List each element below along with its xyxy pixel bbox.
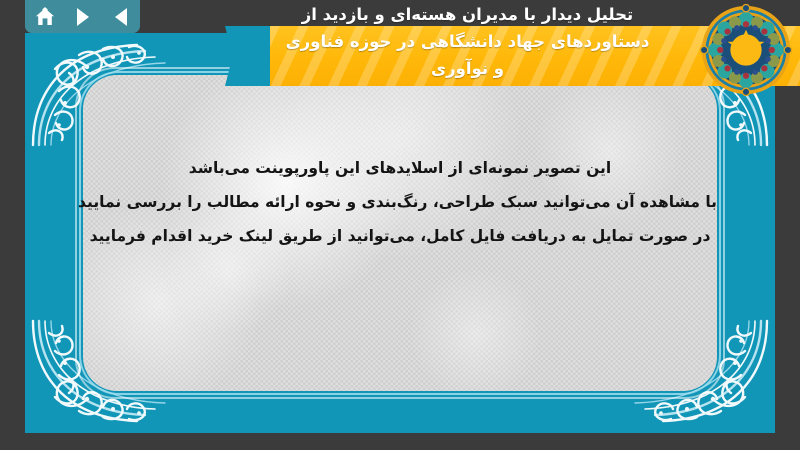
triangle-left-icon: [115, 8, 127, 26]
title-line-2: دستاوردهای جهاد دانشگاهی در حوزه فناوری: [225, 28, 710, 55]
slide-canvas: این تصویر نمونه‌ای از اسلایدهای این پاور…: [25, 33, 775, 433]
body-line-3: در صورت تمایل به دریافت فایل کامل، می‌تو…: [83, 219, 717, 253]
triangle-right-icon: [77, 8, 89, 26]
home-button[interactable]: [32, 4, 58, 30]
home-icon: [34, 7, 56, 27]
slide-body-text: این تصویر نمونه‌ای از اسلایدهای این پاور…: [83, 151, 717, 253]
body-line-2: با مشاهده آن می‌توانید سبک طراحی، رنگ‌بن…: [83, 185, 717, 219]
title-line-3: و نوآوری: [225, 55, 710, 82]
previous-slide-button[interactable]: [108, 4, 134, 30]
ornamental-frame: این تصویر نمونه‌ای از اسلایدهای این پاور…: [25, 33, 775, 433]
next-slide-button[interactable]: [70, 4, 96, 30]
body-line-1: این تصویر نمونه‌ای از اسلایدهای این پاور…: [83, 151, 717, 185]
navigation-bar: [25, 0, 140, 33]
slide-viewer: این تصویر نمونه‌ای از اسلایدهای این پاور…: [0, 0, 800, 450]
mandala-medallion-icon: [700, 4, 792, 96]
title-line-1: تحلیل دیدار با مدیران هسته‌ای و بازدید ا…: [225, 1, 710, 28]
title-banner: تحلیل دیدار با مدیران هسته‌ای و بازدید ا…: [225, 0, 800, 86]
slide-title: تحلیل دیدار با مدیران هسته‌ای و بازدید ا…: [225, 0, 710, 82]
